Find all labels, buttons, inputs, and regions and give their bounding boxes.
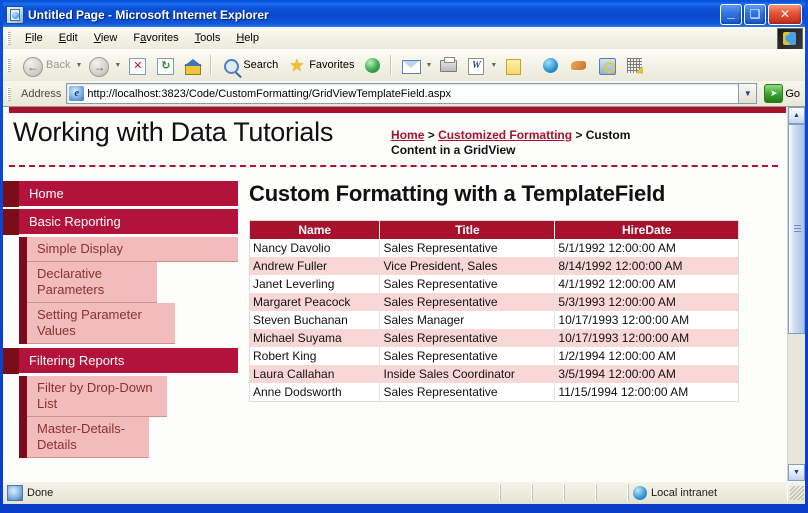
window-title: Untitled Page - Microsoft Internet Explo…	[28, 8, 269, 22]
cell-hiredate: 5/3/1993 12:00:00 AM	[555, 293, 739, 311]
document-icon	[7, 485, 23, 501]
edit-word-button[interactable]: W	[461, 52, 489, 78]
column-header-name[interactable]: Name	[250, 221, 380, 240]
sidebar-item-master-details-details[interactable]: Master-Details-Details	[3, 417, 238, 458]
menu-file[interactable]: File	[17, 30, 51, 46]
scrollbar-thumb[interactable]	[788, 124, 805, 334]
back-arrow-icon: ←	[21, 55, 43, 76]
back-label: Back	[46, 59, 70, 71]
table-row: Steven Buchanan Sales Manager 10/17/1993…	[250, 311, 739, 329]
nav-accent-bar	[19, 376, 27, 417]
page-viewport: Working with Data Tutorials Home > Custo…	[3, 106, 805, 481]
research-button[interactable]	[592, 52, 620, 78]
sidebar-item-home[interactable]: Home	[3, 181, 238, 207]
menu-view[interactable]: View	[86, 30, 126, 46]
mail-button[interactable]	[396, 52, 424, 78]
table-row: Anne Dodsworth Sales Representative 11/1…	[250, 383, 739, 402]
pixel-grid-icon	[624, 55, 644, 76]
navigation-toolbar: ← Back ▼ → ▼ ✕ ↻ Search Favorites	[3, 49, 805, 81]
menu-bar: File Edit View Favorites Tools Help	[3, 27, 805, 49]
table-row: Nancy Davolio Sales Representative 5/1/1…	[250, 239, 739, 257]
forward-arrow-icon: →	[87, 55, 109, 76]
sidebar-item-label: Declarative Parameters	[27, 262, 157, 303]
status-pane-1	[500, 484, 532, 502]
status-bar: Done Local intranet	[3, 481, 805, 504]
cell-hiredate: 5/1/1992 12:00:00 AM	[555, 239, 739, 257]
cell-hiredate: 3/5/1994 12:00:00 AM	[555, 365, 739, 383]
minimize-icon: _	[721, 5, 741, 24]
table-row: Robert King Sales Representative 1/2/199…	[250, 347, 739, 365]
cell-name: Steven Buchanan	[250, 311, 380, 329]
sidebar-item-simple-display[interactable]: Simple Display	[3, 237, 238, 262]
security-zone-text: Local intranet	[651, 487, 717, 499]
table-header-row: Name Title HireDate	[250, 221, 739, 240]
close-button[interactable]: ✕	[768, 4, 802, 25]
stop-button[interactable]: ✕	[122, 52, 150, 78]
sidebar-item-label: Simple Display	[27, 237, 238, 262]
sidebar-item-label: Filtering Reports	[19, 348, 238, 374]
nav-indent-gap	[3, 417, 19, 458]
home-button[interactable]	[178, 52, 206, 78]
cell-hiredate: 10/17/1993 12:00:00 AM	[555, 311, 739, 329]
page-favicon-icon	[69, 86, 84, 101]
search-icon	[220, 55, 240, 76]
page-header: Working with Data Tutorials Home > Custo…	[3, 113, 788, 158]
ie-brand-logo-icon	[777, 28, 803, 50]
research-icon	[596, 55, 616, 76]
nav-indent-gap	[3, 262, 19, 303]
minimize-button[interactable]: _	[720, 4, 742, 25]
nav-accent-bar	[19, 237, 27, 262]
status-pane-4	[596, 484, 628, 502]
status-pane-3	[564, 484, 596, 502]
sidebar-item-label: Setting Parameter Values	[27, 303, 175, 344]
nav-indent-gap	[3, 237, 19, 262]
nav-accent-bar	[3, 181, 19, 207]
mail-dropdown-icon[interactable]: ▼	[424, 62, 433, 69]
table-row: Andrew Fuller Vice President, Sales 8/14…	[250, 257, 739, 275]
developer-tools-button[interactable]	[620, 52, 648, 78]
table-row: Laura Callahan Inside Sales Coordinator …	[250, 365, 739, 383]
cell-hiredate: 10/17/1993 12:00:00 AM	[555, 329, 739, 347]
messenger-button[interactable]	[536, 52, 564, 78]
globe-icon	[540, 55, 560, 76]
cell-hiredate: 8/14/1992 12:00:00 AM	[555, 257, 739, 275]
notes-button[interactable]	[498, 52, 526, 78]
cell-hiredate: 4/1/1992 12:00:00 AM	[555, 275, 739, 293]
breadcrumb-home-link[interactable]: Home	[391, 128, 424, 142]
nav-accent-bar	[3, 348, 19, 374]
favorites-label: Favorites	[309, 59, 354, 71]
media-globe-icon	[362, 55, 382, 76]
sidebar-item-filter-by-drop-down-list[interactable]: Filter by Drop-Down List	[3, 376, 238, 417]
breadcrumb-section-link[interactable]: Customized Formatting	[438, 128, 572, 142]
window-controls: _ ❑ ✕	[720, 4, 802, 25]
print-button[interactable]	[433, 52, 461, 78]
cell-name: Nancy Davolio	[250, 239, 380, 257]
main-content: Custom Formatting with a TemplateField N…	[238, 181, 788, 458]
vertical-scrollbar[interactable]: ▲ ▼	[787, 107, 805, 481]
sidebar-item-setting-parameter-values[interactable]: Setting Parameter Values	[3, 303, 238, 344]
back-dropdown-icon[interactable]: ▼	[74, 62, 83, 69]
resize-grip[interactable]	[790, 486, 804, 500]
refresh-button[interactable]: ↻	[150, 52, 178, 78]
column-header-title[interactable]: Title	[380, 221, 555, 240]
close-icon: ✕	[769, 5, 801, 24]
scroll-up-button[interactable]: ▲	[788, 107, 805, 124]
page-title: Custom Formatting with a TemplateField	[249, 181, 774, 206]
nav-accent-bar	[19, 303, 27, 344]
cell-name: Janet Leverling	[250, 275, 380, 293]
search-button[interactable]: Search	[216, 52, 282, 78]
status-text: Done	[27, 487, 53, 499]
web-page: Working with Data Tutorials Home > Custo…	[3, 107, 788, 481]
cell-name: Michael Suyama	[250, 329, 380, 347]
page-body: Home Basic Reporting Simple Display	[3, 167, 788, 458]
status-pane-2	[532, 484, 564, 502]
toolbar-grip-handle[interactable]	[7, 58, 11, 72]
employees-gridview: Name Title HireDate Nancy Davolio Sales …	[249, 220, 739, 402]
ie-window: Untitled Page - Microsoft Internet Explo…	[0, 0, 808, 513]
status-message-pane: Done	[3, 484, 500, 502]
discuss-button[interactable]	[564, 52, 592, 78]
breadcrumb-separator-1: >	[424, 128, 438, 142]
cell-title: Sales Representative	[380, 329, 555, 347]
edit-dropdown-icon[interactable]: ▼	[489, 62, 498, 69]
forward-dropdown-icon[interactable]: ▼	[113, 62, 122, 69]
breadcrumb: Home > Customized Formatting > Custom Co…	[391, 128, 671, 158]
menu-edit[interactable]: Edit	[51, 30, 86, 46]
globe-icon	[633, 486, 647, 500]
site-title: Working with Data Tutorials	[13, 117, 333, 148]
cell-name: Robert King	[250, 347, 380, 365]
column-header-hiredate[interactable]: HireDate	[555, 221, 739, 240]
cell-title: Sales Representative	[380, 293, 555, 311]
scrollbar-track[interactable]	[788, 124, 805, 464]
sidebar-item-label: Home	[19, 181, 238, 207]
menu-favorites[interactable]: Favorites	[125, 30, 186, 46]
chevron-up-icon: ▲	[793, 112, 800, 119]
sidebar-item-label: Basic Reporting	[19, 209, 238, 235]
cell-title: Inside Sales Coordinator	[380, 365, 555, 383]
cell-name: Laura Callahan	[250, 365, 380, 383]
word-document-icon: W	[465, 55, 485, 76]
table-row: Michael Suyama Sales Representative 10/1…	[250, 329, 739, 347]
menu-grip-handle[interactable]	[7, 31, 11, 45]
media-button[interactable]	[358, 52, 386, 78]
search-label: Search	[243, 59, 278, 71]
chevron-down-icon: ▼	[793, 469, 800, 476]
address-dropdown-button[interactable]: ▼	[739, 83, 757, 104]
sidebar-item-filtering-reports[interactable]: Filtering Reports	[3, 348, 238, 374]
cell-title: Sales Representative	[380, 383, 555, 402]
cell-hiredate: 1/2/1994 12:00:00 AM	[555, 347, 739, 365]
address-input[interactable]: http://localhost:3823/Code/CustomFormatt…	[66, 83, 739, 104]
nav-accent-bar	[19, 262, 27, 303]
address-url-text: http://localhost:3823/Code/CustomFormatt…	[87, 88, 451, 100]
sidebar-nav: Home Basic Reporting Simple Display	[3, 181, 238, 458]
chevron-down-icon: ▼	[744, 89, 752, 98]
sidebar-item-basic-reporting[interactable]: Basic Reporting	[3, 209, 238, 235]
printer-icon	[437, 55, 457, 76]
nav-indent-gap	[3, 303, 19, 344]
sidebar-item-label: Master-Details-Details	[27, 417, 149, 458]
toolbar-separator-2	[390, 55, 392, 75]
cell-name: Anne Dodsworth	[250, 383, 380, 402]
cell-title: Vice President, Sales	[380, 257, 555, 275]
fox-icon	[568, 55, 588, 76]
cell-title: Sales Manager	[380, 311, 555, 329]
mail-icon	[400, 55, 420, 76]
address-bar: Address http://localhost:3823/Code/Custo…	[3, 81, 805, 107]
cell-name: Andrew Fuller	[250, 257, 380, 275]
star-icon	[286, 55, 306, 76]
menu-help[interactable]: Help	[228, 30, 267, 46]
cell-title: Sales Representative	[380, 275, 555, 293]
menu-tools[interactable]: Tools	[187, 30, 229, 46]
title-bar: Untitled Page - Microsoft Internet Explo…	[3, 2, 805, 27]
stop-icon: ✕	[126, 55, 146, 76]
forward-button[interactable]: →	[83, 52, 113, 78]
go-arrow-icon	[764, 84, 783, 103]
cell-name: Margaret Peacock	[250, 293, 380, 311]
go-label: Go	[785, 88, 800, 100]
favorites-button[interactable]: Favorites	[282, 52, 358, 78]
table-row: Margaret Peacock Sales Representative 5/…	[250, 293, 739, 311]
back-button[interactable]: ← Back	[17, 52, 74, 78]
cell-title: Sales Representative	[380, 239, 555, 257]
go-button[interactable]: Go	[764, 84, 800, 103]
home-icon	[182, 55, 202, 76]
toolbar-separator-1	[210, 55, 212, 75]
cell-title: Sales Representative	[380, 347, 555, 365]
sidebar-item-declarative-parameters[interactable]: Declarative Parameters	[3, 262, 238, 303]
sidebar-item-label: Filter by Drop-Down List	[27, 376, 167, 417]
refresh-icon: ↻	[154, 55, 174, 76]
maximize-icon: ❑	[745, 5, 765, 24]
nav-indent-gap	[3, 376, 19, 417]
security-zone-pane[interactable]: Local intranet	[628, 484, 788, 502]
maximize-button[interactable]: ❑	[744, 4, 766, 25]
breadcrumb-separator-2: >	[572, 128, 586, 142]
cell-hiredate: 11/15/1994 12:00:00 AM	[555, 383, 739, 402]
scroll-down-button[interactable]: ▼	[788, 464, 805, 481]
sticky-note-icon	[502, 55, 522, 76]
address-label: Address	[21, 88, 61, 100]
ie-document-icon	[6, 6, 24, 24]
nav-accent-bar	[3, 209, 19, 235]
address-grip-handle[interactable]	[7, 87, 11, 101]
nav-accent-bar	[19, 417, 27, 458]
table-row: Janet Leverling Sales Representative 4/1…	[250, 275, 739, 293]
